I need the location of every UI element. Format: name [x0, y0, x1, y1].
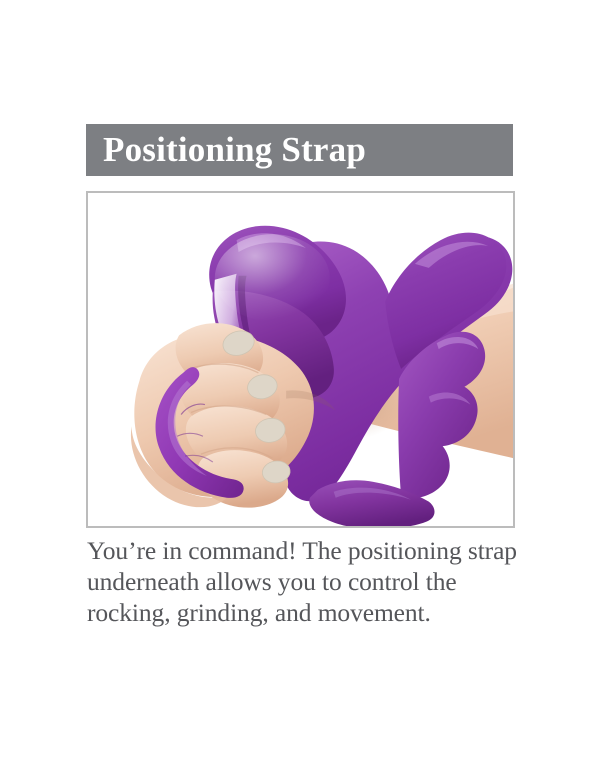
feature-caption: You’re in command! The positioning strap…	[87, 535, 527, 628]
product-photo-stage	[88, 193, 513, 526]
product-feature-page: Positioning Strap	[0, 0, 600, 773]
product-photo-image	[88, 193, 513, 526]
product-photo-frame	[86, 191, 515, 528]
product-bulb-sheen	[215, 234, 330, 321]
title-banner: Positioning Strap	[86, 124, 513, 176]
page-title: Positioning Strap	[103, 132, 366, 167]
